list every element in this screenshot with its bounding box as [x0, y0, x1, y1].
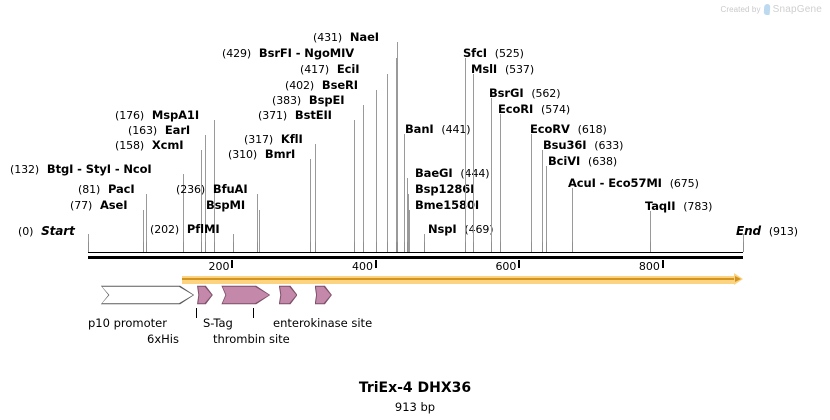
- ruler-tick-label: 200: [208, 260, 229, 273]
- cut-site-tick: [88, 242, 89, 252]
- cut-site-tick: [404, 242, 405, 252]
- enzyme-leader-line: [376, 90, 377, 252]
- enzyme-label[interactable]: (77) AseI: [70, 200, 127, 212]
- enzyme-leader-line: [531, 134, 532, 252]
- enzyme-label[interactable]: BaeGI (444): [415, 168, 489, 180]
- ruler-major-tick: [231, 260, 233, 268]
- cut-site-tick: [743, 242, 744, 252]
- enzyme-leader-line: [500, 114, 501, 252]
- ruler-major-tick: [518, 260, 520, 268]
- feature-connector-tick: [253, 308, 254, 318]
- enzyme-position: (77): [70, 199, 92, 212]
- enzyme-leader-line: [491, 98, 492, 252]
- enzyme-position: (310): [228, 148, 257, 161]
- enzyme-position: (317): [244, 133, 273, 146]
- enzyme-position: (158): [115, 139, 144, 152]
- enzyme-position: (0): [18, 225, 33, 238]
- cut-site-tick: [465, 242, 466, 252]
- enzyme-position: (383): [272, 94, 301, 107]
- enzyme-label[interactable]: (417) EciI: [300, 64, 359, 76]
- feature-label: 6xHis: [147, 332, 179, 346]
- enzyme-position: (176): [115, 109, 144, 122]
- enzyme-label[interactable]: BanI (441): [405, 124, 471, 136]
- enzyme-name: TaqII: [645, 199, 675, 213]
- enzyme-name: BaeGI: [415, 166, 453, 180]
- enzyme-leader-line: [259, 210, 260, 252]
- feature-arrow-fill: [280, 285, 296, 305]
- enzyme-position: (574): [541, 103, 570, 116]
- enzyme-position: (638): [588, 155, 617, 168]
- enzyme-position: (417): [300, 63, 329, 76]
- enzyme-leader-line: [354, 120, 355, 252]
- cut-site-tick: [376, 242, 377, 252]
- cut-site-tick: [531, 242, 532, 252]
- cut-site-tick: [363, 242, 364, 252]
- cut-site-tick: [424, 242, 425, 252]
- enzyme-position: (618): [578, 123, 607, 136]
- backbone-line-upper: [88, 252, 743, 253]
- enzyme-name: MspA1I: [152, 108, 199, 122]
- enzyme-position: (132): [10, 163, 39, 176]
- enzyme-name: XcmI: [152, 138, 184, 152]
- feature-arrow-fill: [223, 285, 269, 305]
- enzyme-leader-line: [315, 144, 316, 252]
- enzyme-name: BsrGI: [489, 86, 524, 100]
- enzyme-leader-line: [397, 42, 398, 252]
- cut-site-tick: [500, 242, 501, 252]
- enzyme-position: (675): [670, 177, 699, 190]
- enzyme-position: (236): [176, 183, 205, 196]
- enzyme-leader-line: [465, 58, 466, 252]
- sequence-map: Created by SnapGene (0) Start(77) AseI(8…: [0, 0, 830, 420]
- enzyme-name: PflMI: [187, 222, 220, 236]
- enzyme-label[interactable]: BsrGI (562): [489, 88, 560, 100]
- enzyme-leader-line: [201, 150, 202, 252]
- cut-site-tick: [205, 242, 206, 252]
- cut-site-tick: [387, 242, 388, 252]
- enzyme-label[interactable]: (163) EarI: [128, 125, 190, 137]
- enzyme-label[interactable]: (132) BtgI - StyI - NcoI: [10, 164, 152, 176]
- enzyme-leader-line: [404, 134, 405, 252]
- enzyme-name: BanI: [405, 122, 434, 136]
- enzyme-label[interactable]: (158) XcmI: [115, 140, 183, 152]
- orf-bar-core: [182, 278, 734, 280]
- watermark-prefix: Created by: [720, 5, 760, 14]
- enzyme-name: AcuI - Eco57MI: [568, 176, 662, 190]
- ruler-major-tick: [375, 260, 377, 268]
- enzyme-leader-line: [546, 166, 547, 252]
- enzyme-name: NspI: [428, 222, 457, 236]
- cut-site-tick: [201, 242, 202, 252]
- backbone-line-lower: [88, 256, 743, 259]
- enzyme-label[interactable]: MslI (537): [471, 64, 534, 76]
- enzyme-label[interactable]: TaqII (783): [645, 201, 712, 213]
- orf-arrowhead-core: [735, 276, 741, 282]
- enzyme-name: BciVI: [548, 154, 580, 168]
- enzyme-name: BspEI: [309, 93, 344, 107]
- enzyme-label[interactable]: EcoRV (618): [530, 124, 607, 136]
- enzyme-label[interactable]: BciVI (638): [548, 156, 617, 168]
- cut-site-tick: [407, 242, 408, 252]
- enzyme-name: EcoRI: [498, 102, 533, 116]
- enzyme-position: (371): [258, 109, 287, 122]
- enzyme-label[interactable]: AcuI - Eco57MI (675): [568, 178, 699, 190]
- snapgene-logo-icon: [763, 4, 770, 15]
- enzyme-name: Bsu36I: [543, 138, 586, 152]
- feature-label: S-Tag: [203, 316, 233, 330]
- enzyme-position: (402): [285, 79, 314, 92]
- enzyme-label[interactable]: (0) Start: [18, 225, 75, 238]
- enzyme-label[interactable]: (431) NaeI: [313, 32, 379, 44]
- enzyme-position: (633): [594, 139, 623, 152]
- enzyme-label[interactable]: BspMI: [206, 200, 245, 212]
- enzyme-label[interactable]: (310) BmrI: [228, 149, 295, 161]
- enzyme-position: (913): [769, 225, 798, 238]
- cut-site-tick: [397, 242, 398, 252]
- enzyme-label[interactable]: End (913): [736, 225, 798, 238]
- enzyme-name: NaeI: [350, 30, 379, 44]
- enzyme-leader-line: [542, 150, 543, 252]
- enzyme-leader-line: [409, 210, 410, 252]
- cut-site-tick: [650, 242, 651, 252]
- enzyme-label[interactable]: (429) BsrFI - NgoMIV: [222, 48, 354, 60]
- cut-site-tick: [146, 242, 147, 252]
- enzyme-position: (783): [683, 200, 712, 213]
- enzyme-name: EciI: [337, 62, 360, 76]
- cut-site-tick: [546, 242, 547, 252]
- cut-site-tick: [315, 242, 316, 252]
- enzyme-name: BstEII: [295, 108, 332, 122]
- cut-site-tick: [233, 242, 234, 252]
- enzyme-name: AseI: [100, 198, 127, 212]
- enzyme-position: (537): [505, 63, 534, 76]
- enzyme-label[interactable]: (402) BseRI: [285, 80, 358, 92]
- enzyme-position: (469): [464, 223, 493, 236]
- enzyme-label[interactable]: (202) PflMI: [150, 224, 220, 236]
- enzyme-position: (441): [441, 123, 470, 136]
- enzyme-name: End: [736, 224, 761, 238]
- feature-label: thrombin site: [213, 332, 290, 346]
- cut-site-tick: [354, 242, 355, 252]
- enzyme-leader-line: [310, 159, 311, 252]
- enzyme-name: Start: [41, 224, 75, 238]
- cut-site-tick: [143, 242, 144, 252]
- enzyme-label[interactable]: Bsu36I (633): [543, 140, 623, 152]
- ruler-tick-label: 400: [352, 260, 373, 273]
- enzyme-label[interactable]: SfcI (525): [463, 48, 524, 60]
- enzyme-label[interactable]: (371) BstEII: [258, 110, 332, 122]
- enzyme-position: (429): [222, 47, 251, 60]
- enzyme-name: BtgI - StyI - NcoI: [47, 162, 152, 176]
- cut-site-tick: [310, 242, 311, 252]
- enzyme-label[interactable]: (383) BspEI: [272, 95, 344, 107]
- enzyme-name: SfcI: [463, 46, 487, 60]
- enzyme-position: (163): [128, 124, 157, 137]
- enzyme-label[interactable]: (236) BfuAI: [176, 184, 248, 196]
- feature-label: p10 promoter: [88, 316, 167, 330]
- enzyme-label[interactable]: Bme1580I: [415, 200, 479, 212]
- cut-site-tick: [214, 242, 215, 252]
- feature-arrow-fill: [102, 285, 193, 305]
- ruler-tick-label: 800: [639, 260, 660, 273]
- enzyme-label[interactable]: (176) MspA1I: [115, 110, 199, 122]
- enzyme-position: (525): [495, 47, 524, 60]
- feature-arrow-fill: [316, 285, 331, 305]
- ruler-major-tick: [662, 260, 664, 268]
- ruler-tick-label: 600: [495, 260, 516, 273]
- enzyme-position: (431): [313, 31, 342, 44]
- feature-arrow-fill: [198, 285, 211, 305]
- cut-site-tick: [572, 242, 573, 252]
- enzyme-name: KflI: [281, 132, 303, 146]
- page-title: TriEx-4 DHX36: [0, 380, 830, 396]
- enzyme-name: Bme1580I: [415, 198, 479, 212]
- enzyme-leader-line: [387, 74, 388, 252]
- enzyme-name: EcoRV: [530, 122, 570, 136]
- enzyme-label[interactable]: EcoRI (574): [498, 104, 570, 116]
- enzyme-name: BspMI: [206, 198, 245, 212]
- enzyme-name: BsrFI - NgoMIV: [259, 46, 354, 60]
- cut-site-tick: [542, 242, 543, 252]
- cut-site-tick: [491, 242, 492, 252]
- enzyme-leader-line: [473, 74, 474, 252]
- enzyme-name: BseRI: [322, 78, 358, 92]
- snapgene-watermark: Created by SnapGene: [720, 4, 822, 15]
- enzyme-label[interactable]: NspI (469): [428, 224, 494, 236]
- feature-connector-tick: [196, 308, 197, 318]
- sequence-length: 913 bp: [0, 400, 830, 414]
- enzyme-label[interactable]: (317) KflI: [244, 134, 303, 146]
- enzyme-name: BfuAI: [213, 182, 248, 196]
- enzyme-name: BmrI: [265, 147, 295, 161]
- enzyme-leader-line: [363, 105, 364, 252]
- enzyme-name: EarI: [165, 123, 190, 137]
- cut-site-tick: [183, 242, 184, 252]
- enzyme-label[interactable]: (81) PacI: [78, 184, 135, 196]
- enzyme-name: MslI: [471, 62, 497, 76]
- cut-site-tick: [257, 242, 258, 252]
- watermark-brand: SnapGene: [773, 4, 822, 15]
- enzyme-position: (81): [78, 183, 100, 196]
- enzyme-position: (562): [531, 87, 560, 100]
- cut-site-tick: [473, 242, 474, 252]
- feature-label: enterokinase site: [273, 316, 372, 330]
- enzyme-position: (202): [150, 223, 179, 236]
- enzyme-name: PacI: [108, 182, 135, 196]
